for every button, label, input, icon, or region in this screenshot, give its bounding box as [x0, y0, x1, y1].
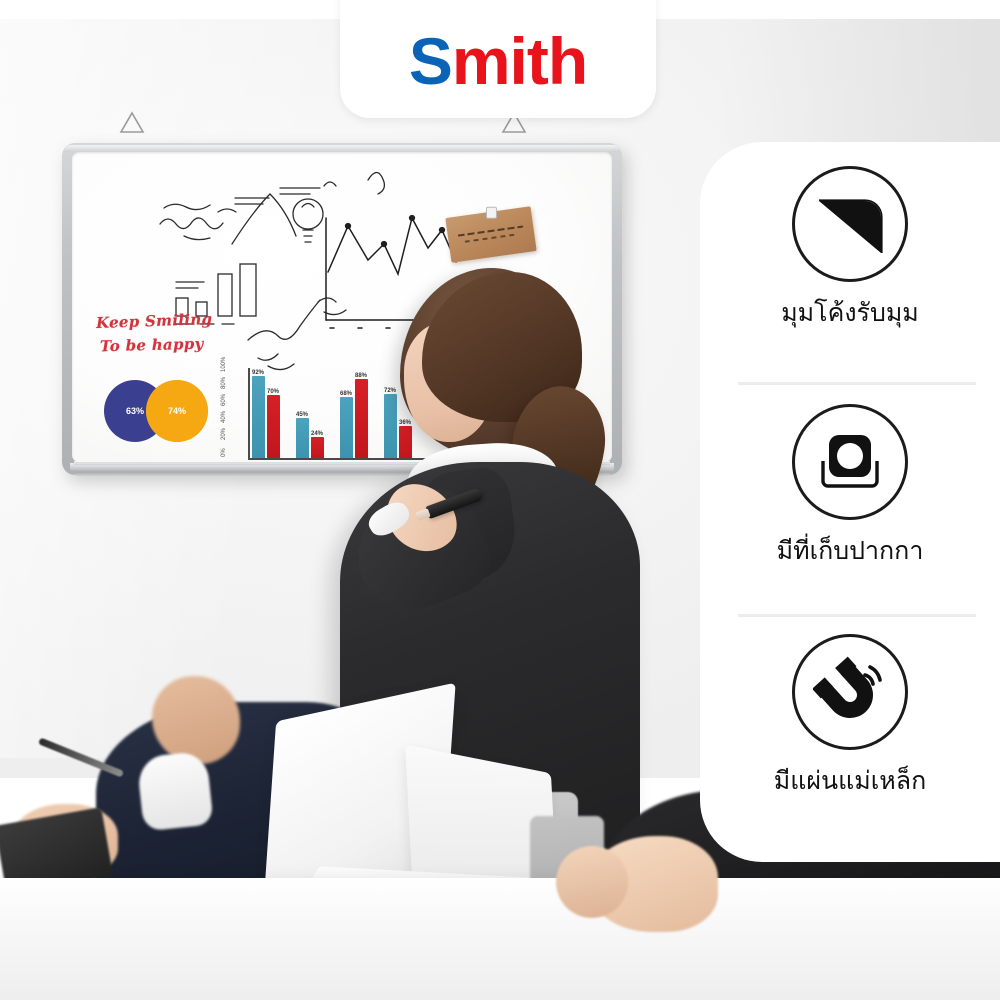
- magnet-icon: [792, 634, 908, 750]
- brand-logo-text: Smith: [409, 28, 587, 94]
- note-magnet-clip: [486, 207, 497, 219]
- feature-label-pen-tray: มีที่เก็บปากกา: [777, 536, 924, 566]
- seated-person-left-face: [152, 676, 240, 764]
- pen-tray-icon: [792, 404, 908, 520]
- product-marketing-image: Smith: [0, 0, 1000, 1000]
- chart-bar-value-label: 70%: [267, 389, 279, 395]
- chart-bar-group: 92%70%: [252, 376, 280, 459]
- chart-y-label: 80%: [221, 377, 227, 389]
- venn-right-value: 74%: [168, 406, 186, 416]
- logo-letters-mith: mith: [452, 24, 587, 98]
- chart-y-label: 40%: [221, 411, 227, 423]
- chart-y-label: 100%: [221, 357, 227, 372]
- seated-person-right-fist: [556, 846, 628, 918]
- chart-bar-value-label: 92%: [252, 370, 264, 376]
- chart-bar: [252, 376, 265, 459]
- feature-label-rounded-corner: มุมโค้งรับมุม: [781, 298, 919, 328]
- brand-logo-badge: Smith: [340, 0, 656, 118]
- venn-circle-right: 74%: [146, 380, 208, 442]
- venn-diagram: 63% 74%: [104, 380, 214, 442]
- chart-y-label: 20%: [221, 428, 227, 440]
- feature-label-magnetic: มีแผ่นแม่เหล็ก: [774, 766, 926, 796]
- seated-person-left-shirt: [136, 751, 213, 832]
- feature-divider-1: [738, 382, 976, 385]
- feature-item-pen-tray: มีที่เก็บปากกา: [700, 404, 1000, 566]
- logo-letter-s: S: [409, 24, 452, 98]
- chart-y-label: 0%: [221, 448, 227, 457]
- chart-bar: [267, 395, 280, 458]
- feature-item-rounded-corner: มุมโค้งรับมุม: [700, 166, 1000, 328]
- feature-panel: มุมโค้งรับมุม มีที่เก็บปากกา: [700, 142, 1000, 862]
- venn-left-value: 63%: [126, 406, 144, 416]
- feature-divider-2: [738, 614, 976, 617]
- feature-item-magnetic: มีแผ่นแม่เหล็ก: [700, 634, 1000, 796]
- wall-hanger-bracket-left: [117, 111, 147, 133]
- rounded-corner-icon: [792, 166, 908, 282]
- chart-y-axis: [248, 368, 250, 460]
- note-scribble-line-2: [465, 234, 515, 243]
- handwriting-to-be-happy: To be happy: [100, 335, 204, 356]
- chart-y-label: 60%: [221, 394, 227, 406]
- meeting-table: [0, 878, 1000, 1000]
